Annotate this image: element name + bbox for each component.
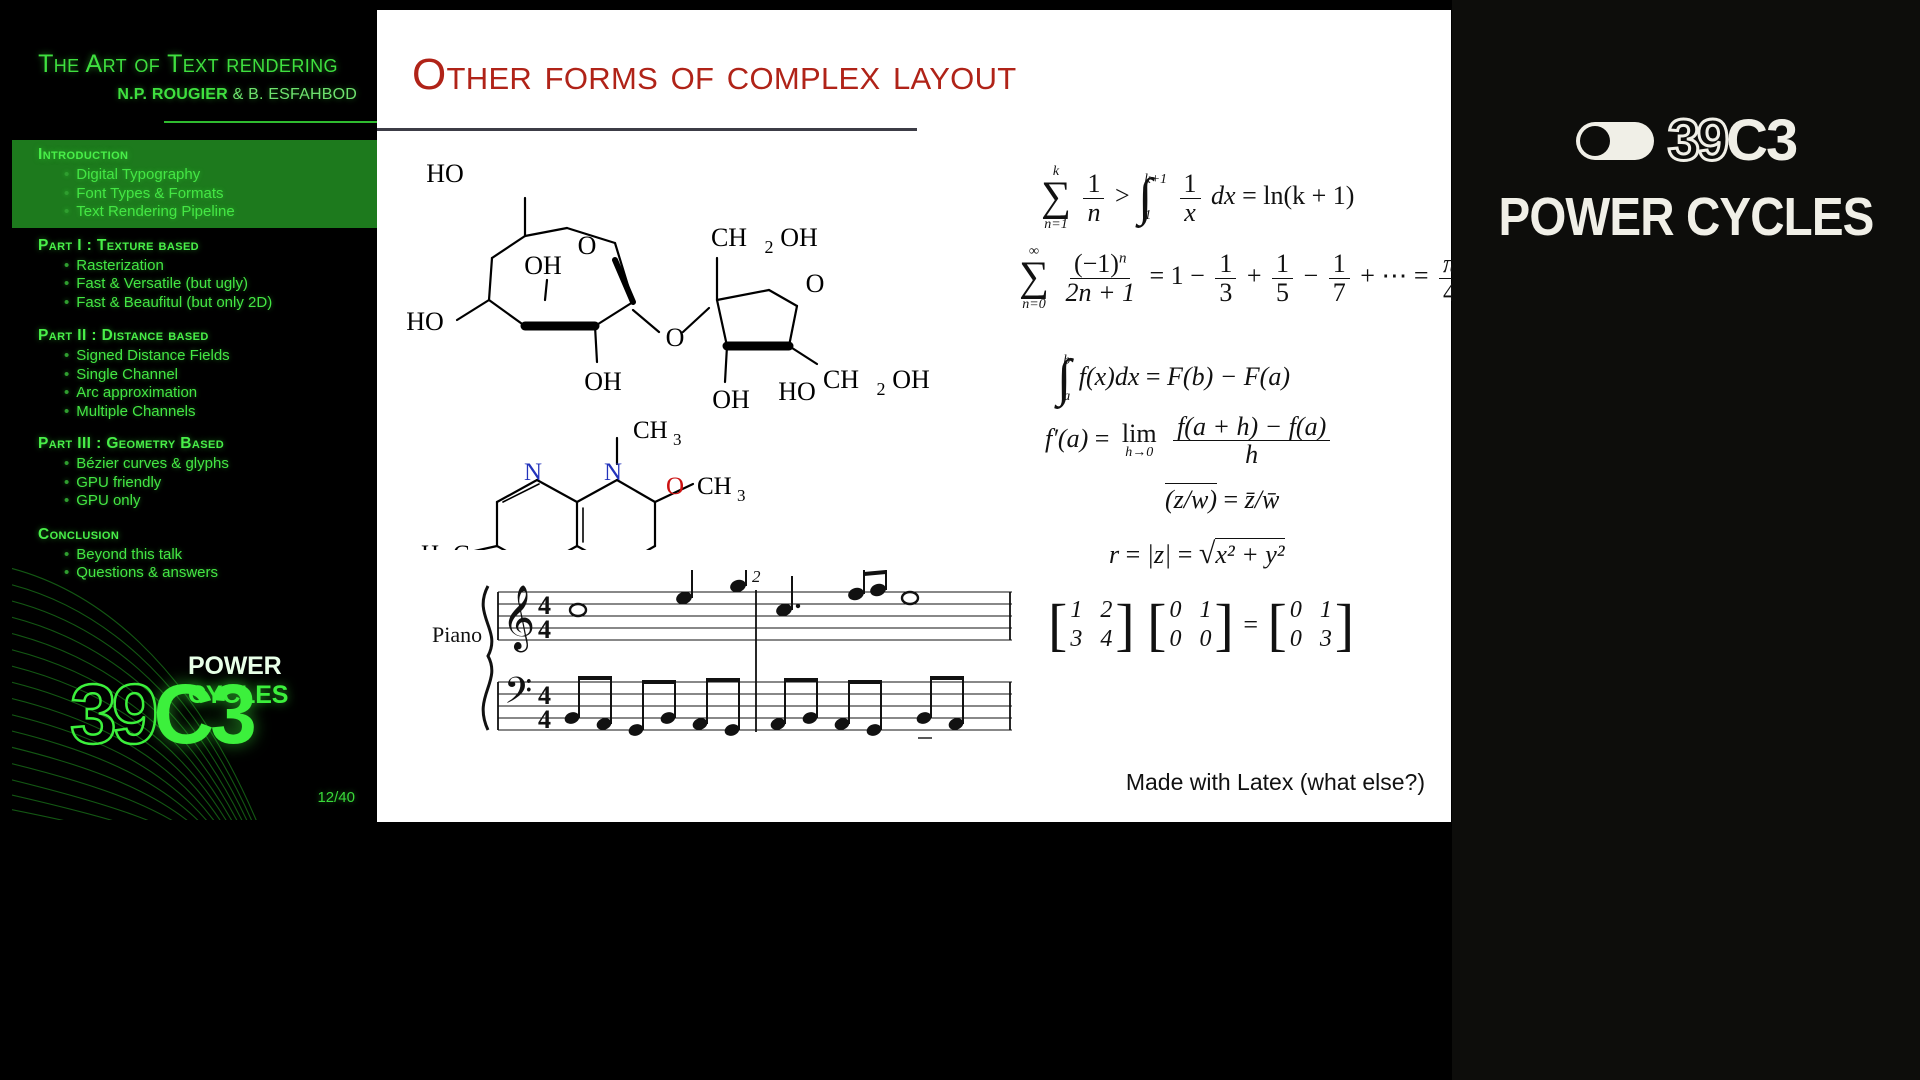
sidebar-group-heading: Part I : Texture based (38, 237, 377, 255)
svg-text:2: 2 (765, 237, 774, 257)
sidebar-item-label: Beyond this talk (76, 546, 182, 563)
svg-text:OH: OH (584, 367, 622, 396)
equation-harmonic: k ∑ n=1 1 n > ∫ k+1 1 (1039, 165, 1354, 231)
svg-text:C: C (453, 541, 470, 550)
matrix-cell: 3 (1320, 626, 1332, 653)
logo-c3: C3 (153, 681, 252, 748)
svg-text:2: 2 (877, 379, 886, 399)
matrix-cell: 0 (1290, 597, 1302, 624)
fraction-third: 1 3 (1215, 250, 1236, 306)
sidebar-item-3-2[interactable]: •GPU only (64, 492, 377, 509)
equation-modulus: r = |z| = √x² + y² (1109, 537, 1285, 571)
equation-leibniz: ∞ ∑ n=0 (−1)n 2n + 1 = 1 − 1 3 + (1017, 245, 1464, 311)
fraction-1-over-n: 1 n (1083, 170, 1104, 226)
chemistry-diagram: HO O OH HO OH CH 2 OH O O OH CH 2 OH (397, 150, 957, 550)
piano-staff: Piano (432, 570, 1032, 760)
brand-subtitle: POWER CYCLES (1480, 186, 1892, 248)
sidebar-group-3[interactable]: Part III : Geometry Based•Bézier curves … (12, 429, 377, 517)
bullet-icon: • (64, 546, 69, 563)
matrix-b-cells: 0100 (1166, 597, 1214, 653)
sidebar-item-label: Fast & Beaufitul (but only 2D) (76, 294, 272, 311)
svg-text:H: H (421, 541, 439, 550)
fraction-seventh: 1 7 (1329, 250, 1350, 306)
sqrt-glyph: √ (1199, 537, 1215, 570)
title-underline (377, 128, 917, 131)
author-primary: N.P. ROUGIER (117, 86, 228, 103)
matrix-b: [ 0100 ] (1147, 597, 1234, 653)
event-branding-panel: 39 C3 POWER CYCLES (1452, 0, 1920, 1080)
measure-number: 2 (752, 570, 761, 586)
svg-text:OH: OH (780, 223, 818, 252)
sidebar-item-2-3[interactable]: •Multiple Channels (64, 403, 377, 420)
svg-text:𝄞: 𝄞 (502, 585, 535, 652)
equation-ftc: ∫ b a f(x)dx = F(b) − F(a) (1055, 353, 1290, 405)
matrix-a-cells: 1234 (1067, 597, 1115, 653)
sum-operator: k ∑ n=1 (1041, 165, 1071, 231)
svg-text:CH: CH (697, 473, 732, 500)
sidebar-item-label: Rasterization (76, 257, 164, 274)
bullet-icon: • (64, 294, 69, 311)
page-title: Other forms of complex layout (412, 50, 1017, 100)
brand-c3: C3 (1726, 118, 1796, 164)
sidebar-group-heading: Part II : Distance based (38, 327, 377, 345)
matrix-cell: 3 (1070, 626, 1082, 653)
equation-1-rhs: ln(k + 1) (1263, 181, 1354, 210)
sidebar-item-0-0[interactable]: •Digital Typography (64, 166, 377, 183)
sidebar-item-label: GPU friendly (76, 474, 161, 491)
bullet-icon: • (64, 564, 69, 581)
presentation-capture: The Art of Text rendering N.P. ROUGIER &… (0, 0, 1452, 1080)
sidebar-item-2-1[interactable]: •Single Channel (64, 366, 377, 383)
slide-canvas: Other forms of complex layout (377, 10, 1451, 822)
bullet-icon: • (64, 275, 69, 292)
sidebar-item-0-2[interactable]: •Text Rendering Pipeline (64, 203, 377, 220)
svg-text:CH: CH (711, 223, 747, 252)
sidebar-item-2-0[interactable]: •Signed Distance Fields (64, 347, 377, 364)
sidebar-group-2[interactable]: Part II : Distance based•Signed Distance… (12, 321, 377, 427)
sidebar-group-heading: Part III : Geometry Based (38, 435, 377, 453)
svg-text:O: O (666, 473, 684, 500)
sidebar-item-label: Multiple Channels (76, 403, 195, 420)
math-equations: k ∑ n=1 1 n > ∫ k+1 1 (1017, 165, 1437, 725)
brand-39: 39 (1668, 118, 1727, 164)
deck-title: The Art of Text rendering (12, 50, 364, 79)
matrix-cell: 4 (1100, 626, 1112, 653)
svg-text:O: O (578, 231, 597, 260)
bullet-icon: • (64, 185, 69, 202)
bullet-icon: • (64, 455, 69, 472)
bullet-icon: • (64, 366, 69, 383)
svg-text:3: 3 (673, 430, 682, 449)
bullet-icon: • (64, 384, 69, 401)
sucrose-caffeine-structure: HO O OH HO OH CH 2 OH O O OH CH 2 OH (397, 150, 957, 550)
sidebar-item-0-1[interactable]: •Font Types & Formats (64, 185, 377, 202)
matrix-c-cells: 0103 (1287, 597, 1335, 653)
bullet-icon: • (64, 257, 69, 274)
bullet-icon: • (64, 492, 69, 509)
svg-text:OH: OH (524, 251, 562, 280)
relation-gt: > (1115, 181, 1130, 210)
integral-operator: ∫ k+1 1 (1138, 172, 1167, 224)
svg-text:O: O (666, 323, 685, 352)
sidebar-item-1-2[interactable]: •Fast & Beaufitul (but only 2D) (64, 294, 377, 311)
time-sig-lower-bass: 4 (538, 705, 551, 734)
svg-text:N: N (604, 459, 622, 486)
logo-39: 39 (70, 681, 153, 748)
deck-title-text: The Art of Text rendering (12, 50, 364, 79)
sidebar-group-heading: Introduction (38, 146, 377, 164)
sidebar-group-0[interactable]: Introduction•Digital Typography•Font Typ… (12, 140, 377, 228)
matrix-cell: 2 (1100, 597, 1112, 624)
sidebar-item-label: Digital Typography (76, 166, 200, 183)
radicand: x² + y² (1215, 538, 1284, 570)
svg-text:CH: CH (633, 417, 668, 444)
slide-caption: Made with Latex (what else?) (1126, 769, 1425, 796)
time-sig-lower-treble: 4 (538, 615, 551, 644)
limit-operator: lim h→0 (1122, 422, 1157, 460)
equation-conjugate: (z/w) = z̄/w̄ (1165, 483, 1279, 515)
overline-z-over-w: (z/w) (1165, 483, 1217, 515)
sidebar-item-label: Font Types & Formats (76, 185, 223, 202)
bullet-icon: • (64, 347, 69, 364)
bullet-icon: • (64, 474, 69, 491)
page-indicator: 12/40 (317, 789, 355, 806)
bullet-icon: • (64, 403, 69, 420)
difference-quotient: f(a + h) − f(a) h (1173, 413, 1330, 469)
matrix-cell: 0 (1199, 626, 1211, 653)
fraction-1-over-x: 1 x (1180, 170, 1201, 226)
author-secondary: & B. ESFAHBOD (233, 86, 357, 103)
music-notation: Piano (432, 570, 1032, 750)
equation-derivative: f′(a) = lim h→0 f(a + h) − f(a) h (1045, 413, 1334, 469)
integral-a-to-b: ∫ b a (1057, 353, 1070, 405)
matrix-cell: 0 (1169, 626, 1181, 653)
svg-text:HO: HO (406, 307, 444, 336)
sidebar-item-4-1[interactable]: •Questions & answers (64, 564, 377, 581)
slide-sidebar: The Art of Text rendering N.P. ROUGIER &… (12, 8, 377, 820)
svg-text:OH: OH (892, 365, 930, 394)
bullet-icon: • (64, 203, 69, 220)
title-divider (164, 121, 377, 123)
sidebar-item-label: Arc approximation (76, 384, 197, 401)
svg-text:HO: HO (778, 377, 816, 406)
matrix-cell: 1 (1070, 597, 1082, 624)
matrix-cell: 1 (1199, 597, 1211, 624)
sidebar-item-label: Questions & answers (76, 564, 218, 581)
svg-text:N: N (524, 459, 542, 486)
matrix-a: [ 1234 ] (1048, 597, 1135, 653)
screen-root: The Art of Text rendering N.P. ROUGIER &… (0, 0, 1920, 1080)
instrument-label: Piano (432, 622, 482, 647)
sidebar-item-label: Text Rendering Pipeline (76, 203, 234, 220)
matrix-cell: 0 (1169, 597, 1181, 624)
svg-text:HO: HO (426, 159, 464, 188)
matrix-c: [ 0103 ] (1267, 597, 1354, 653)
sidebar-item-4-0[interactable]: •Beyond this talk (64, 546, 377, 563)
matrix-cell: 0 (1290, 626, 1302, 653)
svg-text:𝄢: 𝄢 (504, 671, 532, 720)
deck-authors: N.P. ROUGIER & B. ESFAHBOD (117, 86, 357, 104)
sidebar-item-label: Signed Distance Fields (76, 347, 229, 364)
svg-text:CH: CH (823, 365, 859, 394)
fraction-fifth: 1 5 (1272, 250, 1293, 306)
cccongress-logo: POWER CYCLES 39 C3 (42, 652, 352, 784)
brand-block: 39 C3 POWER CYCLES (1452, 118, 1920, 248)
sum-operator-infinity: ∞ ∑ n=0 (1019, 245, 1049, 311)
bullet-icon: • (64, 166, 69, 183)
matrix-cell: 1 (1320, 597, 1332, 624)
sidebar-item-1-0[interactable]: •Rasterization (64, 257, 377, 274)
equation-matrix-product: [ 1234 ] [ 0100 ] = [ 0103 ] (1045, 597, 1357, 653)
sidebar-group-heading: Conclusion (38, 526, 377, 544)
svg-text:O: O (806, 269, 825, 298)
sidebar-group-1[interactable]: Part I : Texture based•Rasterization•Fas… (12, 231, 377, 319)
sidebar-item-label: Bézier curves & glyphs (76, 455, 229, 472)
svg-text:3: 3 (737, 486, 746, 505)
sidebar-item-1-1[interactable]: •Fast & Versatile (but ugly) (64, 275, 377, 292)
sidebar-item-label: Fast & Versatile (but ugly) (76, 275, 248, 292)
sidebar-group-4[interactable]: Conclusion•Beyond this talk•Questions & … (12, 520, 377, 589)
fraction-alternating: (−1)n 2n + 1 (1061, 250, 1139, 306)
sidebar-item-3-0[interactable]: •Bézier curves & glyphs (64, 455, 377, 472)
logo-39c3: 39 C3 (70, 672, 253, 758)
toggle-pill-icon (1576, 122, 1654, 160)
sidebar-item-label: Single Channel (76, 366, 178, 383)
sidebar-item-label: GPU only (76, 492, 140, 509)
svg-text:OH: OH (712, 385, 750, 414)
sidebar-item-2-2[interactable]: •Arc approximation (64, 384, 377, 401)
sidebar-item-3-1[interactable]: •GPU friendly (64, 474, 377, 491)
